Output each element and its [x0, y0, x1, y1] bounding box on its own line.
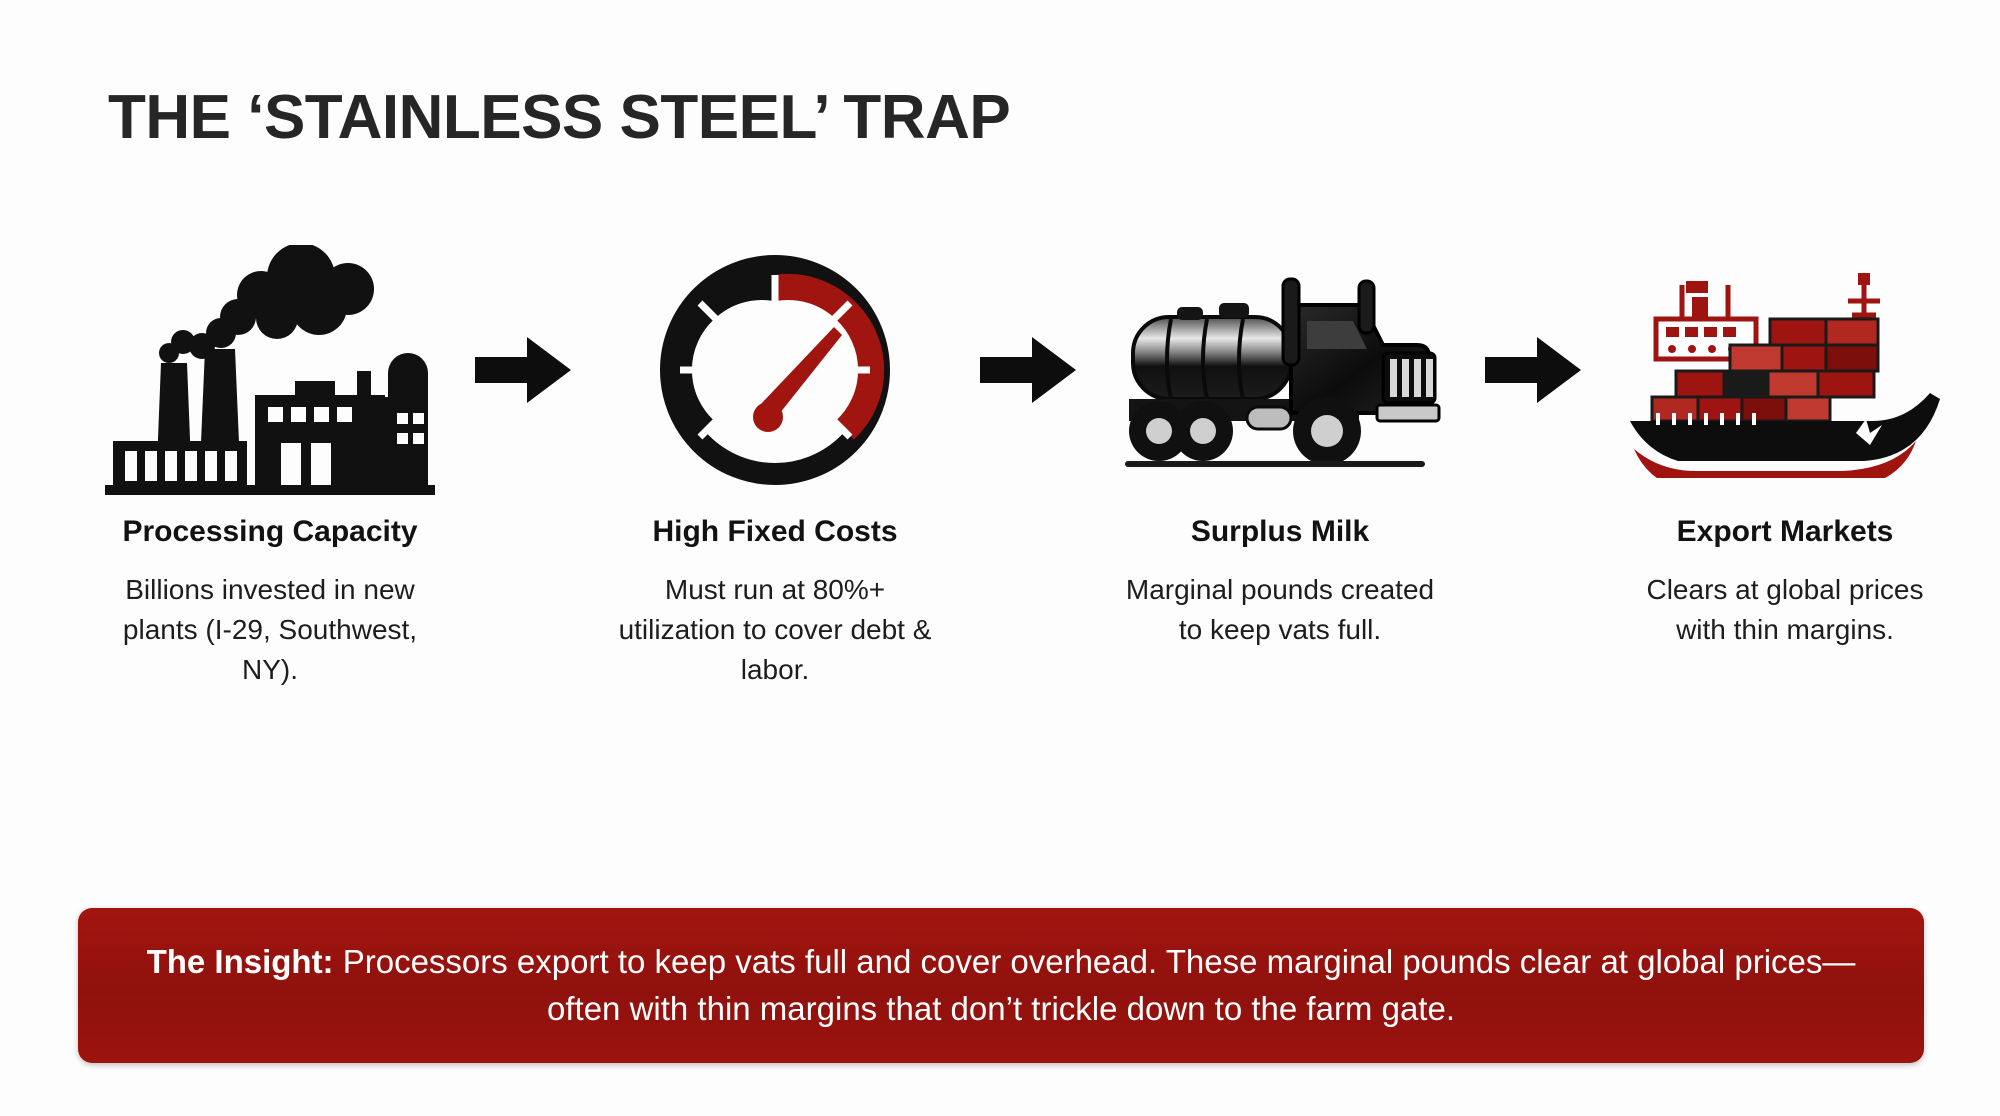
gauge-icon — [575, 240, 975, 500]
flow-step-high-fixed-costs: High Fixed Costs Must run at 80%+ utiliz… — [575, 240, 975, 689]
flow-step-description: Clears at global prices with thin margin… — [1625, 570, 1945, 650]
flow-step-title: Export Markets — [1677, 514, 1894, 550]
insight-label: The Insight: — [147, 943, 334, 980]
flow-step-description: Marginal pounds created to keep vats ful… — [1120, 570, 1440, 650]
container-ship-icon — [1585, 240, 1985, 500]
flow-step-title: High Fixed Costs — [652, 514, 897, 550]
flow-step-description: Must run at 80%+ utilization to cover de… — [615, 570, 935, 689]
insight-body: Processors export to keep vats full and … — [334, 943, 1856, 1027]
flow-step-title: Surplus Milk — [1191, 514, 1369, 550]
flow-step-processing-capacity: Processing Capacity Billions invested in… — [70, 240, 470, 689]
tanker-truck-icon — [1080, 240, 1480, 500]
infographic-poster: THE ‘STAINLESS STEEL’ TRAP — [0, 0, 2000, 1116]
insight-banner: The Insight: Processors export to keep v… — [78, 908, 1924, 1063]
flow-arrow-3 — [1480, 240, 1585, 500]
flow-step-surplus-milk: Surplus Milk Marginal pounds created to … — [1080, 240, 1480, 650]
flow-arrow-2 — [975, 240, 1080, 500]
process-flow: Processing Capacity Billions invested in… — [70, 240, 1950, 670]
page-title: THE ‘STAINLESS STEEL’ TRAP — [108, 82, 1010, 153]
insight-text: The Insight: Processors export to keep v… — [126, 939, 1876, 1033]
flow-step-export-markets: Export Markets Clears at global prices w… — [1585, 240, 1985, 650]
factory-smokestacks-icon — [70, 240, 470, 500]
flow-step-title: Processing Capacity — [122, 514, 417, 550]
flow-arrow-1 — [470, 240, 575, 500]
flow-step-description: Billions invested in new plants (I-29, S… — [110, 570, 430, 689]
